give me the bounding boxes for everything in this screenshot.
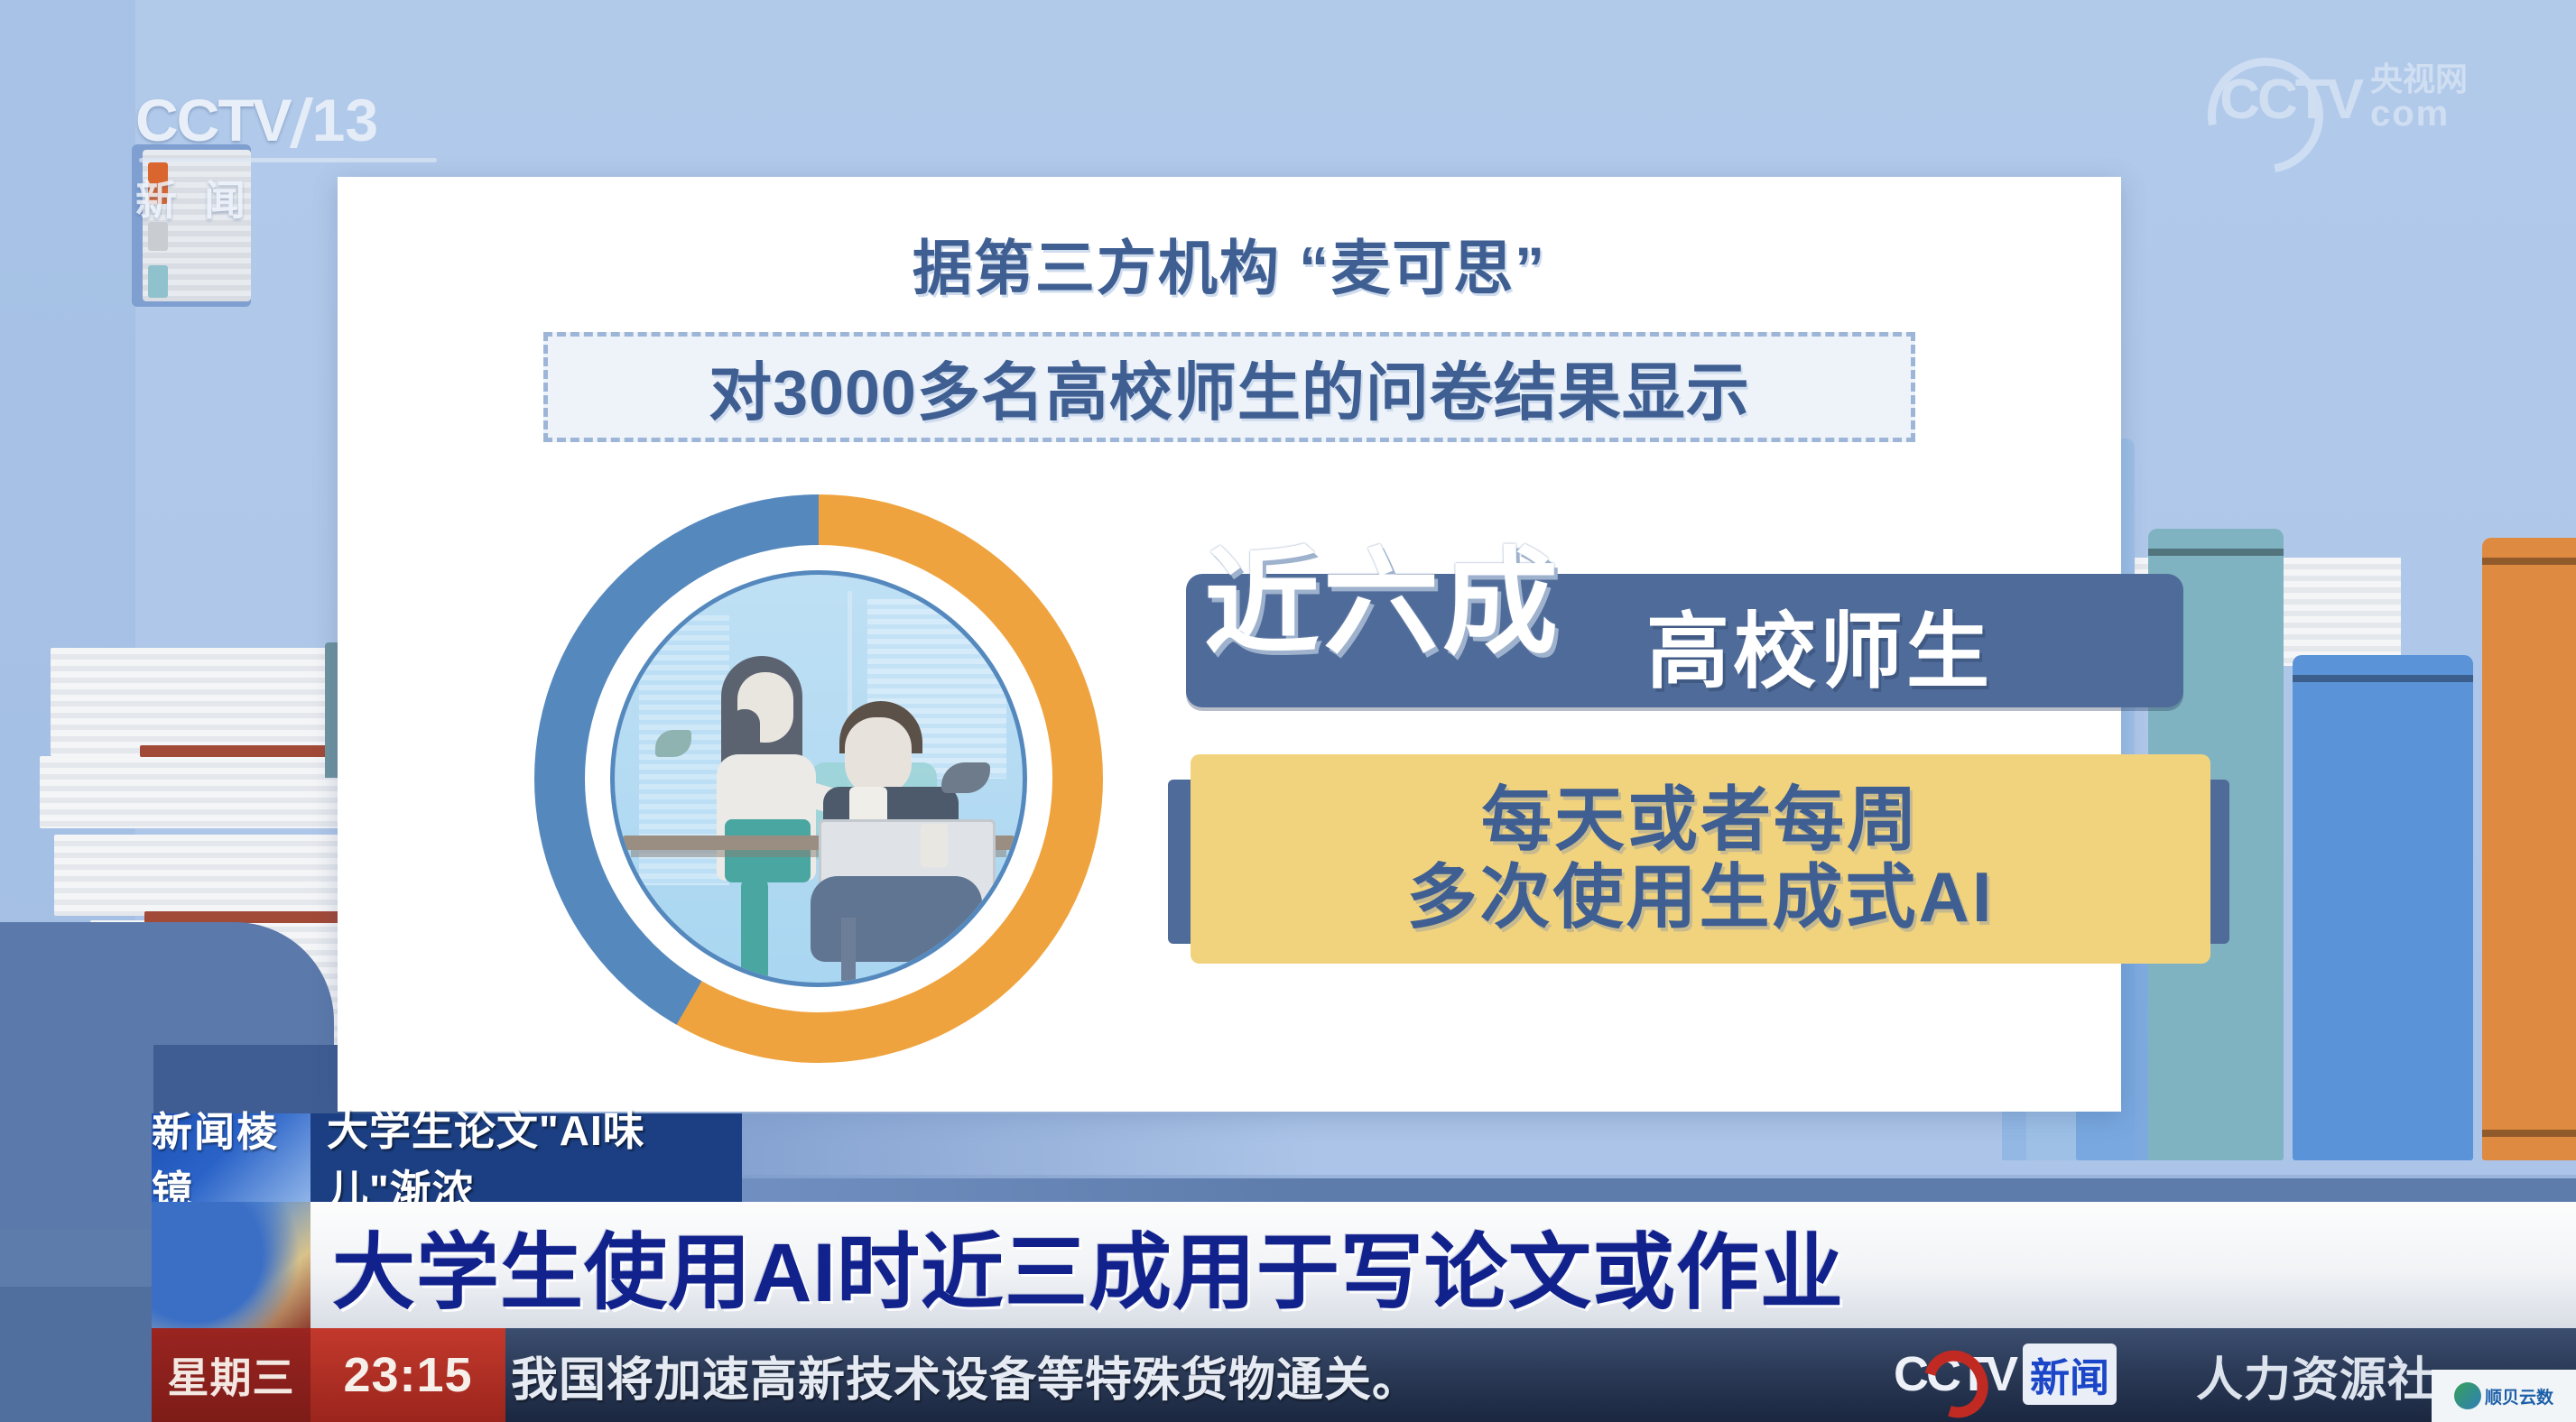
poster-chip-teal bbox=[148, 265, 168, 298]
corner-watermark-text: 顺贝云数 bbox=[2485, 1384, 2553, 1408]
man-face bbox=[845, 717, 912, 795]
detail-card: 每天或者每周 多次使用生成式AI bbox=[1191, 754, 2210, 964]
ticker-channel-badge: CCTV 新闻 bbox=[1894, 1341, 2117, 1408]
cup-icon bbox=[921, 824, 948, 867]
ticker-weekday: 星期三 bbox=[152, 1328, 310, 1422]
ticker-clock: 23:15 bbox=[310, 1328, 505, 1422]
headline-bar: 大学生使用AI时近三成用于写论文或作业 bbox=[310, 1202, 2576, 1328]
topic-highlight bbox=[726, 1113, 1312, 1202]
headline-text: 大学生使用AI时近三成用于写论文或作业 bbox=[332, 1205, 1844, 1325]
chair-stem bbox=[841, 918, 856, 981]
detail-line-1: 每天或者每周 bbox=[1481, 784, 1920, 856]
ticker-clock-text: 23:15 bbox=[343, 1347, 472, 1403]
channel-logo-number: 13 bbox=[312, 87, 378, 153]
infographic-panel: 据第三方机构 “麦可思” 对3000多名高校师生的问卷结果显示 bbox=[338, 177, 2121, 1112]
heading-box: 对3000多名高校师生的问卷结果显示 bbox=[543, 332, 1915, 442]
stat-subject: 高校师生 bbox=[1646, 585, 1993, 705]
program-label-text: 新闻棱镜 bbox=[152, 1099, 310, 1216]
woman-leg bbox=[741, 876, 768, 984]
topic-label-text: 大学生论文"AI味儿"渐浓 bbox=[327, 1098, 742, 1217]
stat-number: 近六成 bbox=[1204, 509, 1561, 676]
paper-stack-item bbox=[54, 835, 370, 916]
ticker-item: 我国将加速高新技术设备等特殊货物通关。 bbox=[511, 1328, 1420, 1422]
donut-illustration bbox=[610, 570, 1027, 987]
channel-logo-divider bbox=[139, 158, 437, 162]
corner-watermark: 顺贝云数 bbox=[2432, 1370, 2576, 1422]
detail-line-2: 多次使用生成式AI bbox=[1406, 862, 1994, 934]
ticker-weekday-text: 星期三 bbox=[168, 1345, 295, 1405]
background-book-orange-right bbox=[2482, 538, 2576, 1160]
channel-logo-slash bbox=[290, 97, 313, 148]
heading-line-2: 对3000多名高校师生的问卷结果显示 bbox=[709, 342, 1750, 433]
paper-stack-item bbox=[40, 756, 365, 828]
donut-chart bbox=[534, 494, 1103, 1063]
heading-line-1: 据第三方机构 “麦可思” bbox=[338, 220, 2121, 307]
watermark-site-en: com bbox=[2370, 96, 2468, 132]
topic-label: 大学生论文"AI味儿"渐浓 bbox=[310, 1113, 742, 1202]
watermark-site-cn: 央视网 bbox=[2370, 63, 2468, 96]
lower-third: 新闻棱镜 大学生论文"AI味儿"渐浓 大学生使用AI时近三成用于写论文或作业 星… bbox=[152, 1110, 2576, 1422]
ticker-badge-channel: 新闻 bbox=[2023, 1344, 2117, 1405]
background-book-blue-right bbox=[2293, 655, 2473, 1160]
globe-swoosh bbox=[152, 1202, 310, 1328]
broadcast-screen: CCTV13 新闻 CCTV 央视网 com 据第三方机构 “麦可思” 对300… bbox=[0, 0, 2576, 1422]
panel-heading-block: 据第三方机构 “麦可思” 对3000多名高校师生的问卷结果显示 bbox=[338, 177, 2121, 442]
program-label: 新闻棱镜 bbox=[152, 1113, 310, 1202]
office-chair bbox=[811, 876, 982, 962]
globe-graphic bbox=[152, 1202, 310, 1328]
cctv-com-watermark: CCTV 央视网 com bbox=[2219, 63, 2468, 132]
paper-stack-item bbox=[51, 648, 348, 756]
ticker-next-item-text: 人力资源社 bbox=[2196, 1342, 2435, 1409]
corner-watermark-icon bbox=[2454, 1382, 2481, 1409]
channel-logo-brand: CCTV bbox=[135, 87, 291, 153]
ticker-item-text: 我国将加速高新技术设备等特殊货物通关。 bbox=[511, 1342, 1420, 1409]
news-ticker: 星期三 23:15 我国将加速高新技术设备等特殊货物通关。 CCTV 新闻 人力… bbox=[152, 1328, 2576, 1422]
